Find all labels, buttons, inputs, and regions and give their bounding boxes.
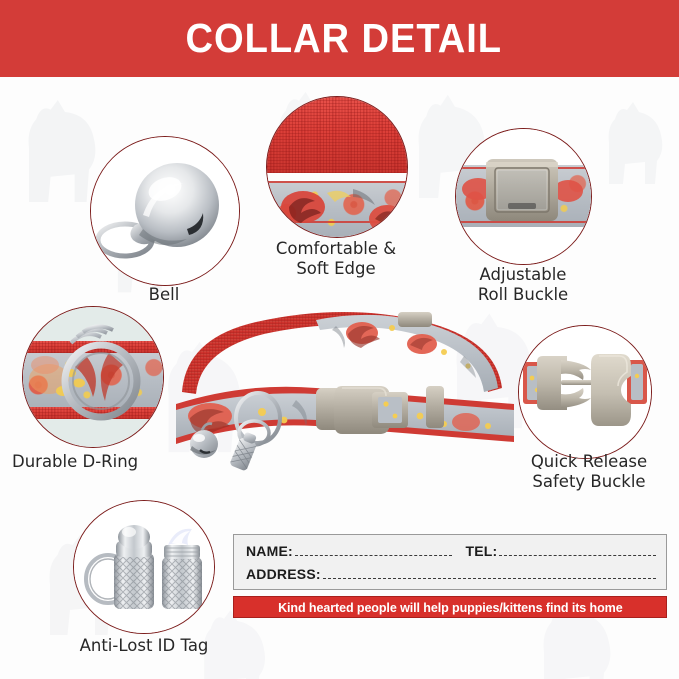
id-tag-form: NAME: TEL: ADDRESS: (233, 534, 667, 590)
webbing-edge-photo (267, 97, 407, 237)
d-ring-photo (23, 307, 163, 447)
page-title: COLLAR DETAIL (177, 18, 503, 59)
product-detail-infographic: COLLAR DETAIL (0, 0, 679, 679)
slogan-banner: Kind hearted people will help puppies/ki… (233, 596, 667, 618)
address-input[interactable] (323, 577, 656, 579)
bell-photo (91, 137, 239, 285)
slogan-text: Kind hearted people will help puppies/ki… (278, 600, 623, 615)
form-row-address: ADDRESS: (246, 566, 656, 582)
quick-release-buckle-photo (519, 326, 651, 458)
feature-circle-bell (90, 136, 240, 286)
dog-silhouette-watermark (585, 86, 679, 196)
id-tag-capsule-photo (74, 501, 214, 633)
feature-circle-comfortable-soft-edge (266, 96, 408, 238)
address-label: ADDRESS: (246, 566, 321, 582)
feature-label-quick-release-safety-buckle: Quick Release Safety Buckle (503, 452, 675, 492)
feature-label-comfortable-soft-edge: Comfortable & Soft Edge (251, 239, 421, 279)
header-banner: COLLAR DETAIL (0, 0, 679, 77)
feature-circle-durable-d-ring (22, 306, 164, 448)
feature-circle-quick-release-safety-buckle (518, 325, 652, 459)
name-label: NAME: (246, 543, 293, 559)
feature-label-adjustable-roll-buckle: Adjustable Roll Buckle (442, 265, 604, 305)
form-row-name-tel: NAME: TEL: (246, 543, 656, 559)
feature-circle-anti-lost-id-tag (73, 500, 215, 634)
tel-input[interactable] (499, 554, 656, 556)
feature-label-anti-lost-id-tag: Anti-Lost ID Tag (58, 636, 230, 656)
tel-label: TEL: (466, 543, 498, 559)
name-input[interactable] (295, 554, 452, 556)
product-collar-photo (176, 300, 516, 478)
feature-circle-adjustable-roll-buckle (455, 128, 592, 265)
roll-buckle-photo (456, 129, 591, 264)
